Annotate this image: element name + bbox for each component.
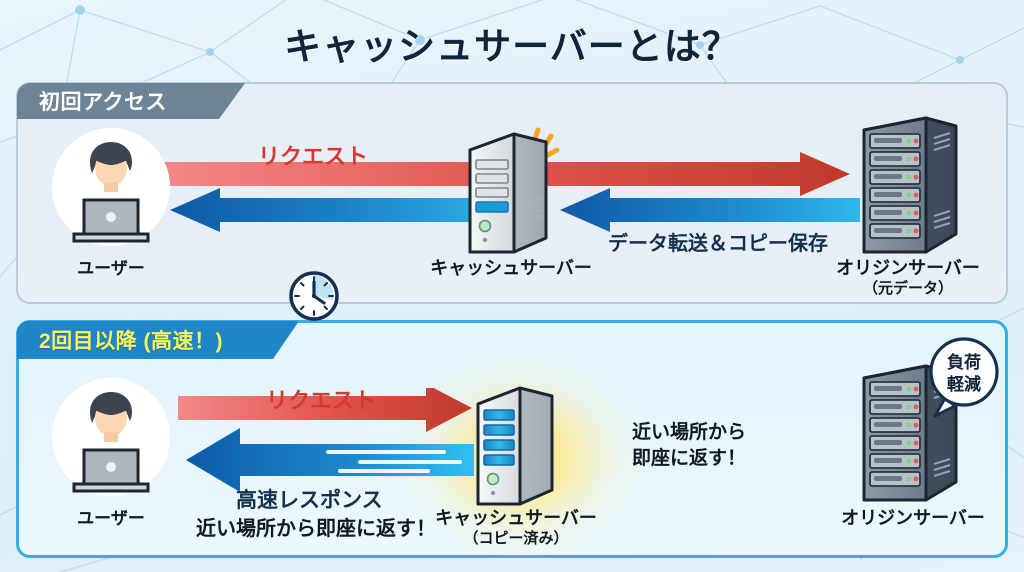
- panel2-note: 近い場所から 即座に返す！: [632, 420, 746, 472]
- infographic-canvas: キャッシュサーバーとは？ 初回アクセス: [0, 0, 1024, 572]
- bubble-text-line1: 負荷: [925, 352, 1003, 373]
- panel2-user-label: ユーザー: [36, 504, 186, 529]
- user-laptop-icon: [52, 128, 170, 246]
- clock-divider: [288, 270, 340, 322]
- bubble-text-line2: 軽減: [925, 374, 1003, 395]
- panel2-response-label: 高速レスポンス: [236, 484, 383, 514]
- panel1-origin-server-icon: [852, 112, 964, 264]
- panel1-cache-server-icon: [456, 120, 566, 265]
- panel2-request-label: リクエスト: [266, 383, 376, 415]
- page-title: キャッシュサーバーとは？: [0, 16, 1024, 70]
- user-laptop-icon: [52, 378, 170, 496]
- panel1-transfer-label: データ転送＆コピー保存: [608, 227, 828, 256]
- panel2-cache-server-caption: キャッシュサーバー （コピー済み）: [416, 508, 616, 548]
- panel1-request-label: リクエスト: [258, 139, 368, 171]
- clock-icon: [288, 270, 340, 322]
- note-line-2: 即座に返す！: [632, 446, 746, 472]
- panel2-cache-server-icon: [466, 378, 566, 518]
- panel2-response-sublabel: 近い場所から即座に返す！: [196, 512, 436, 541]
- panel2-origin-server-caption: オリジンサーバー: [828, 508, 998, 529]
- load-reduction-bubble: 負荷 軽減: [925, 336, 1003, 420]
- note-line-1: 近い場所から: [632, 420, 746, 446]
- panel1-tab-label: 初回アクセス: [17, 83, 245, 119]
- panel1-origin-server-caption: オリジンサーバー （元データ）: [818, 258, 998, 298]
- panel1-user-label: ユーザー: [36, 254, 186, 279]
- panel1-cache-server-caption: キャッシュサーバー: [411, 258, 611, 279]
- panel2-tab-label: 2回目以降 (高速！): [17, 321, 299, 359]
